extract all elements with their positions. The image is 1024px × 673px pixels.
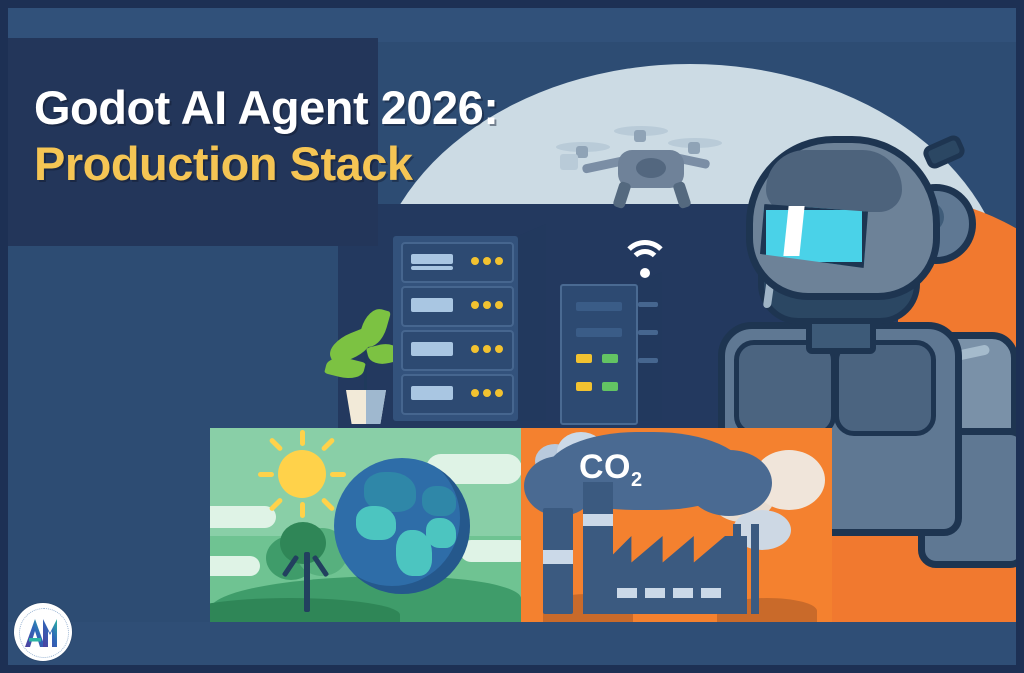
server-led	[495, 301, 503, 309]
sun-ray	[330, 472, 346, 477]
factory-window	[617, 588, 637, 598]
drone-leg	[612, 181, 631, 209]
page-title: Godot AI Agent 2026:	[34, 84, 454, 132]
server-tower-side	[634, 272, 662, 421]
server-led	[471, 301, 479, 309]
image-canvas: CO2 Godot	[0, 0, 1024, 673]
tower-vent	[638, 302, 658, 307]
factory-window	[673, 588, 693, 598]
chimney-band	[543, 550, 573, 564]
factory-pipe	[733, 524, 741, 546]
tower-vent	[638, 358, 658, 363]
sun-ray	[300, 430, 305, 446]
earth-globe-icon	[334, 458, 470, 594]
server-led	[471, 257, 479, 265]
server-led	[495, 389, 503, 397]
eco-green-half	[210, 428, 521, 632]
potted-plant-icon	[326, 304, 402, 426]
server-unit-label	[411, 298, 453, 312]
wifi-dot	[640, 268, 650, 278]
eco-comparison-panel: CO2	[210, 428, 832, 632]
robot-chest-plate-right	[834, 340, 936, 436]
sun-ray	[300, 502, 305, 518]
page-subtitle: Production Stack	[34, 140, 454, 188]
server-led	[471, 345, 479, 353]
eco-orange-half: CO2	[521, 428, 832, 632]
tower-led-green	[602, 382, 618, 391]
cloud-icon	[460, 540, 530, 562]
tower-slot	[576, 328, 622, 337]
robot-helmet-highlight	[766, 150, 902, 212]
server-rack-side	[518, 224, 546, 421]
sun-ray	[258, 472, 274, 477]
server-tower-icon	[560, 284, 638, 425]
server-unit	[401, 286, 514, 327]
sun-icon	[278, 450, 326, 498]
tree-foliage	[280, 522, 326, 564]
server-unit	[401, 330, 514, 371]
tower-vent	[638, 330, 658, 335]
globe-landmass	[426, 518, 456, 548]
bottom-bar	[8, 622, 1016, 665]
server-led	[483, 257, 491, 265]
plant-pot-shade	[366, 390, 386, 424]
logo-ring	[19, 608, 69, 658]
server-led	[495, 257, 503, 265]
server-rack-icon	[393, 236, 518, 421]
server-unit-label-2	[411, 266, 453, 270]
drone-camera	[636, 158, 666, 178]
server-unit	[401, 374, 514, 415]
server-led	[495, 345, 503, 353]
tower-led-amber	[576, 354, 592, 363]
drone-hub	[688, 142, 700, 154]
tower-led-amber	[576, 382, 592, 391]
drone-accessory	[560, 154, 578, 170]
cloud-icon	[210, 506, 276, 528]
globe-landmass	[422, 486, 456, 516]
server-led	[483, 389, 491, 397]
drone-leg	[672, 181, 691, 209]
globe-landmass	[356, 506, 396, 540]
tower-slot	[576, 302, 622, 311]
wifi-icon	[620, 240, 670, 280]
factory-roof	[605, 536, 725, 614]
server-unit	[401, 242, 514, 283]
tower-led-green	[602, 354, 618, 363]
robot-chest-plate-left	[734, 340, 836, 436]
server-unit-label	[411, 254, 453, 264]
cloud-icon	[210, 556, 260, 576]
factory-pipe	[751, 524, 759, 614]
drone-hub	[634, 130, 646, 142]
co2-cloud-icon	[546, 432, 746, 510]
brand-logo[interactable]	[14, 603, 72, 661]
tree-trunk	[304, 552, 310, 612]
factory-window	[645, 588, 665, 598]
server-led	[471, 389, 479, 397]
top-strip	[8, 8, 1016, 42]
title-block: Godot AI Agent 2026: Production Stack	[34, 84, 454, 188]
chimney-band	[583, 514, 613, 526]
factory-window	[701, 588, 721, 598]
server-unit-label	[411, 386, 453, 400]
server-unit-label	[411, 342, 453, 356]
server-led	[483, 301, 491, 309]
artwork-frame: CO2 Godot	[8, 8, 1016, 665]
co2-label: CO2	[579, 448, 643, 492]
server-led	[483, 345, 491, 353]
factory-tower	[725, 536, 747, 614]
robot-antenna	[921, 133, 967, 171]
